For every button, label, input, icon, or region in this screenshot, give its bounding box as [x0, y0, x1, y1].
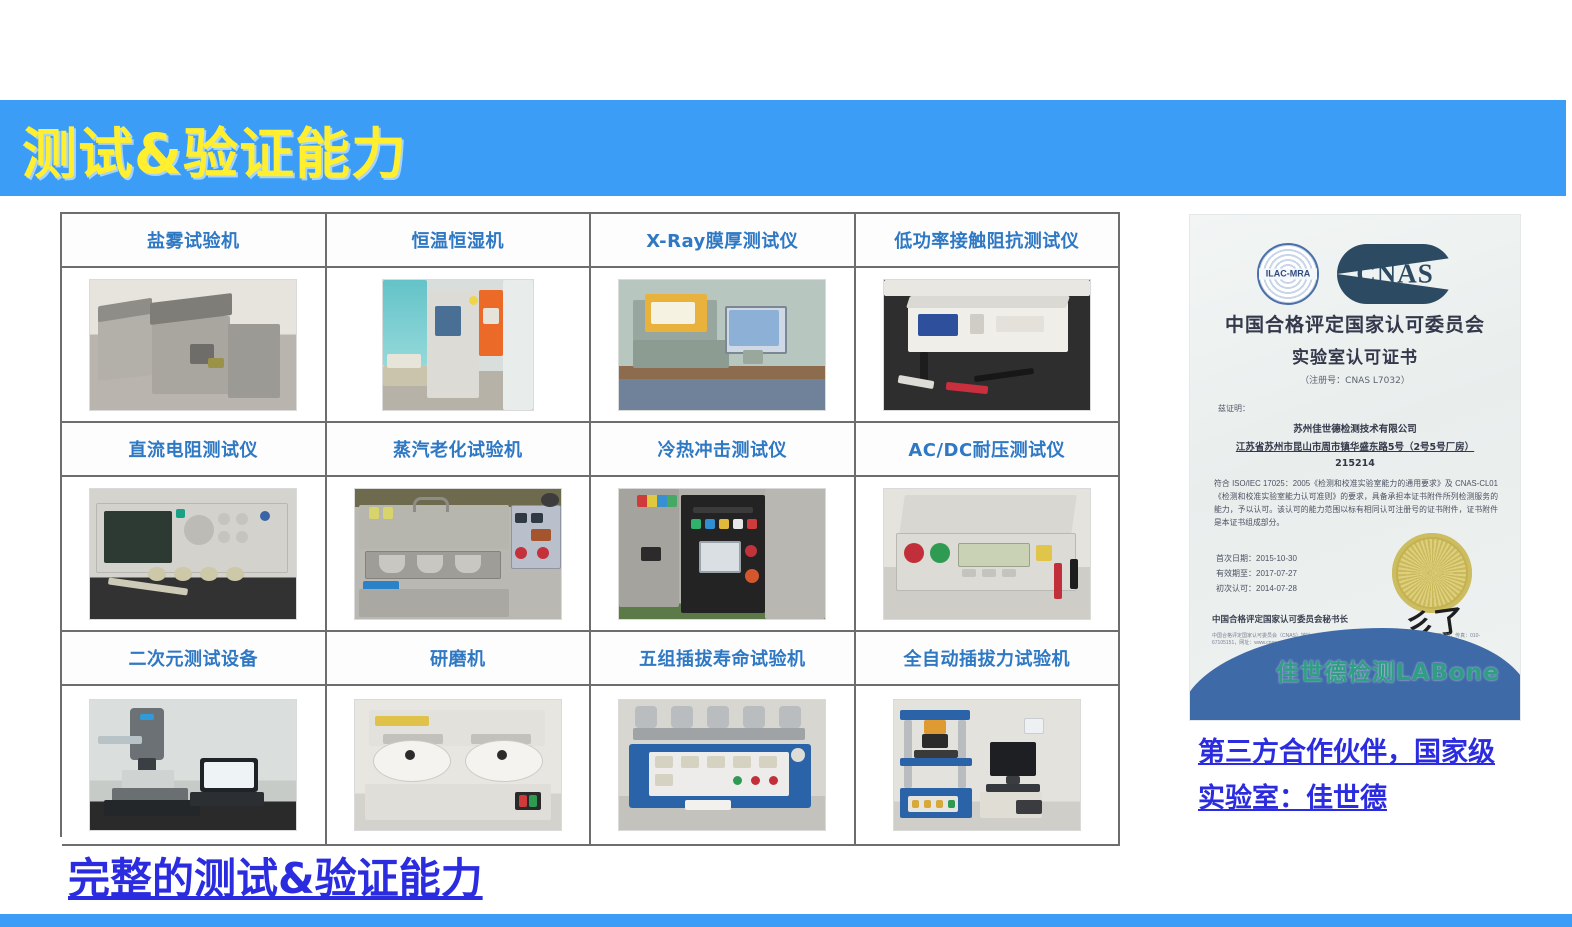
equipment-photo-cell: [327, 477, 592, 632]
salt-spray-chamber-photo: [89, 279, 297, 411]
certificate-logos: ILAC-MRA CNAS: [1190, 243, 1520, 305]
automatic-insertion-force-tester-photo: [893, 699, 1081, 831]
footer-strip: [0, 914, 1572, 927]
equipment-photo-cell: [591, 477, 856, 632]
cnas-logo-text: CNAS: [1337, 259, 1453, 290]
equipment-label-cell: 直流电阻测试仪: [62, 423, 327, 477]
certificate-body-text: 符合 ISO/IEC 17025：2005《检测和校准实验室能力的通用要求》及 …: [1214, 477, 1498, 529]
equipment-photo-cell: [62, 477, 327, 632]
certificate-signature-label: 中国合格评定国家认可委员会秘书长: [1212, 613, 1348, 625]
certificate-date-issue: 首次日期：2015-10-30: [1216, 551, 1297, 566]
dc-resistance-tester-photo: [89, 488, 297, 620]
equipment-label-cell: X-Ray膜厚测试仪: [591, 214, 856, 268]
ilac-mra-logo-icon: ILAC-MRA: [1257, 243, 1319, 305]
equipment-photo-cell: [856, 268, 1121, 423]
page-title: 测试&验证能力: [22, 109, 407, 189]
equipment-label: 五组插拔寿命试验机: [639, 645, 806, 671]
equipment-label-cell: 盐雾试验机: [62, 214, 327, 268]
equipment-label: 低功率接触阻抗测试仪: [894, 227, 1079, 253]
equipment-grid: 盐雾试验机 恒温恒湿机 X-Ray膜厚测试仪 低功率接触阻抗测试仪: [60, 212, 1120, 837]
equipment-label: AC/DC耐压测试仪: [908, 436, 1065, 462]
ilac-mra-logo-text: ILAC-MRA: [1259, 269, 1317, 280]
constant-temperature-humidity-chamber-photo: [382, 279, 534, 411]
equipment-label: 盐雾试验机: [147, 227, 240, 253]
xray-film-thickness-tester-photo: [618, 279, 826, 411]
page-header-banner: 测试&验证能力: [0, 100, 1566, 196]
cnas-certificate-image: ILAC-MRA CNAS 中国合格评定国家认可委员会 实验室认可证书 （注册号…: [1190, 215, 1520, 720]
equipment-photo-cell: [62, 268, 327, 423]
equipment-label: 研磨机: [430, 645, 486, 671]
equipment-label: 蒸汽老化试验机: [393, 436, 523, 462]
equipment-label: 直流电阻测试仪: [129, 436, 259, 462]
certificate-date-first-accredited: 初次认可：2014-07-28: [1216, 581, 1297, 596]
bottom-caption: 完整的测试&验证能力: [68, 845, 483, 906]
equipment-label-cell: 蒸汽老化试验机: [327, 423, 592, 477]
equipment-label: 冷热冲击测试仪: [658, 436, 788, 462]
certificate-postcode: 215214: [1190, 458, 1520, 469]
certificate-certify-label: 兹证明：: [1218, 403, 1250, 414]
equipment-label-cell: 全自动插拔力试验机: [856, 632, 1121, 686]
equipment-photo-cell: [591, 686, 856, 846]
equipment-label-cell: AC/DC耐压测试仪: [856, 423, 1121, 477]
third-party-lab-caption: 第三方合作伙伴，国家级 实验室：佳世德: [1198, 730, 1572, 822]
equipment-photo-cell: [327, 268, 592, 423]
equipment-label: X-Ray膜厚测试仪: [646, 227, 798, 253]
equipment-label-cell: 低功率接触阻抗测试仪: [856, 214, 1121, 268]
equipment-label: 恒温恒湿机: [412, 227, 505, 253]
steam-aging-tester-photo: [354, 488, 562, 620]
certificate-dates: 首次日期：2015-10-30 有效期至：2017-07-27 初次认可：201…: [1216, 551, 1297, 596]
five-station-insertion-life-tester-photo: [618, 699, 826, 831]
certificate-date-valid-until: 有效期至：2017-07-27: [1216, 566, 1297, 581]
equipment-label-cell: 五组插拔寿命试验机: [591, 632, 856, 686]
equipment-photo-cell: [856, 686, 1121, 846]
third-party-lab-caption-line1: 第三方合作伙伴，国家级: [1198, 730, 1572, 776]
equipment-label-cell: 冷热冲击测试仪: [591, 423, 856, 477]
low-power-contact-impedance-tester-photo: [883, 279, 1091, 411]
acdc-withstand-voltage-tester-photo: [883, 488, 1091, 620]
equipment-photo-cell: [327, 686, 592, 846]
certificate-title-line2: 实验室认可证书: [1190, 343, 1520, 368]
equipment-label-cell: 恒温恒湿机: [327, 214, 592, 268]
equipment-label: 二次元测试设备: [129, 645, 259, 671]
cnas-logo-icon: CNAS: [1337, 244, 1453, 304]
grinding-polishing-machine-photo: [354, 699, 562, 831]
equipment-photo-cell: [591, 268, 856, 423]
equipment-label-cell: 研磨机: [327, 632, 592, 686]
equipment-photo-cell: [62, 686, 327, 846]
equipment-photo-cell: [856, 477, 1121, 632]
two-dimensional-measuring-machine-photo: [89, 699, 297, 831]
certificate-title-line1: 中国合格评定国家认可委员会: [1190, 310, 1520, 337]
third-party-lab-caption-line2: 实验室：佳世德: [1198, 776, 1572, 822]
certificate-watermark: 佳世德检测LABone: [1276, 653, 1500, 687]
certificate-company-name: 苏州佳世德检测技术有限公司: [1190, 421, 1520, 435]
certificate-registration-number: （注册号：CNAS L7032）: [1190, 373, 1520, 386]
thermal-shock-tester-photo: [618, 488, 826, 620]
equipment-label-cell: 二次元测试设备: [62, 632, 327, 686]
certificate-address: 江苏省苏州市昆山市周市镇华盛东路5号（2号5号厂房）: [1190, 439, 1520, 453]
equipment-label: 全自动插拔力试验机: [904, 645, 1071, 671]
